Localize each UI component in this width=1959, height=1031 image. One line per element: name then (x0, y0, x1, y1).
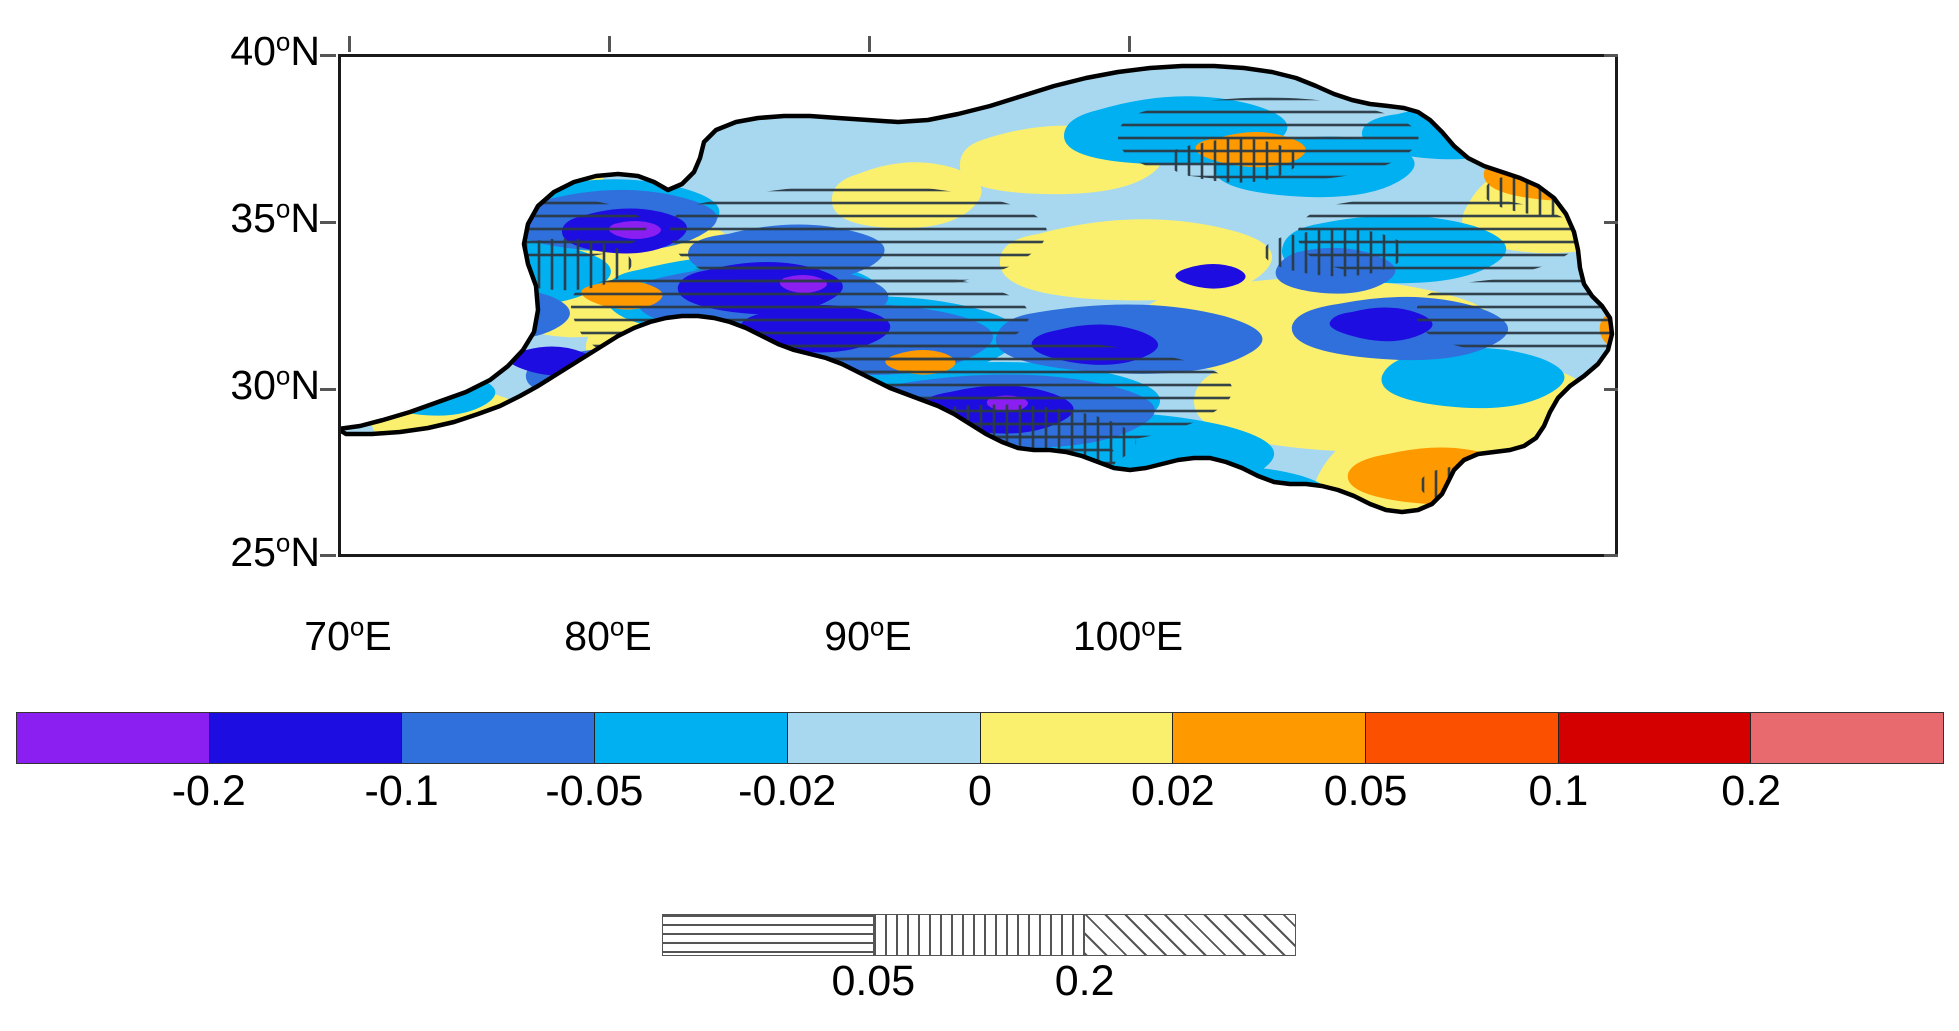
y-label-25-value: 25 (230, 529, 276, 575)
colorbar-label-2: -0.05 (545, 770, 643, 813)
colorbar-labels: -0.2 -0.1 -0.05 -0.02 0 0.02 0.05 0.1 0.… (16, 770, 1944, 822)
x-label-70-suffix: E (364, 613, 391, 659)
colorbar-label-6: 0.05 (1324, 770, 1408, 813)
y-tick-right-25n (1604, 554, 1618, 557)
x-tick-90e (868, 36, 871, 52)
x-tick-100e (1128, 36, 1131, 52)
y-tick-25n (320, 554, 336, 557)
map-axes-frame (338, 54, 1618, 557)
x-tick-70e (348, 36, 351, 52)
x-axis-label-80e: 80oE (498, 613, 718, 660)
hatch-legend-labels: 0.05 0.2 (662, 960, 1296, 1010)
y-axis-label-30n: 30oN (20, 362, 320, 409)
map-panel (338, 54, 1618, 557)
degree-symbol-icon: o (350, 611, 364, 641)
x-label-90-suffix: E (884, 613, 911, 659)
colorbar-swatch-medium-blue[interactable] (402, 713, 595, 763)
colorbar-label-0: -0.2 (172, 770, 246, 813)
hatch-swatch-diagonal-lines[interactable] (1085, 915, 1295, 955)
y-label-30-value: 30 (230, 362, 276, 408)
colorbar-swatch-yellow[interactable] (981, 713, 1174, 763)
y-axis-label-40n: 40oN (20, 28, 320, 75)
y-axis-label-35n: 35oN (20, 195, 320, 242)
colorbar-label-8: 0.2 (1721, 770, 1781, 813)
hatch-label-1: 0.2 (1055, 960, 1115, 1003)
x-axis-label-100e: 100oE (1018, 613, 1238, 660)
x-axis-label-70e: 70oE (238, 613, 458, 660)
y-label-40-suffix: N (290, 28, 320, 74)
figure-root: 40oN 35oN 30oN 25oN 70oE 80oE 90oE 100oE… (0, 0, 1959, 1031)
colorbar-swatch-orange[interactable] (1173, 713, 1366, 763)
hatch-legend[interactable] (662, 914, 1296, 956)
y-label-35-value: 35 (230, 195, 276, 241)
colorbar-swatch-cyan[interactable] (595, 713, 788, 763)
x-label-100-suffix: E (1156, 613, 1183, 659)
y-label-40-value: 40 (230, 28, 276, 74)
y-label-30-suffix: N (290, 362, 320, 408)
x-label-90-value: 90 (824, 613, 870, 659)
colorbar-label-5: 0.02 (1131, 770, 1215, 813)
y-axis-label-25n: 25oN (20, 529, 320, 576)
y-tick-35n (320, 221, 336, 224)
colorbar-label-1: -0.1 (365, 770, 439, 813)
y-label-35-suffix: N (290, 195, 320, 241)
colorbar-label-3: -0.02 (738, 770, 836, 813)
hatch-label-0: 0.05 (831, 960, 915, 1003)
x-label-80-value: 80 (564, 613, 610, 659)
y-tick-40n (320, 54, 336, 57)
colorbar-label-7: 0.1 (1529, 770, 1589, 813)
colorbar-swatch-blue[interactable] (210, 713, 403, 763)
degree-symbol-icon: o (276, 193, 290, 223)
colorbar-swatch-red[interactable] (1559, 713, 1752, 763)
y-tick-30n (320, 388, 336, 391)
colorbar-swatch-violet[interactable] (17, 713, 210, 763)
colorbar-swatch-dark-orange[interactable] (1366, 713, 1559, 763)
colorbar-label-4: 0 (968, 770, 992, 813)
x-label-100-value: 100 (1073, 613, 1141, 659)
y-tick-right-35n (1604, 221, 1618, 224)
degree-symbol-icon: o (276, 360, 290, 390)
y-label-25-suffix: N (290, 529, 320, 575)
x-label-80-suffix: E (624, 613, 651, 659)
y-tick-right-40n (1604, 54, 1618, 57)
degree-symbol-icon: o (1141, 611, 1155, 641)
colorbar[interactable] (16, 712, 1944, 764)
x-label-70-value: 70 (304, 613, 350, 659)
degree-symbol-icon: o (870, 611, 884, 641)
x-tick-80e (608, 36, 611, 52)
degree-symbol-icon: o (276, 527, 290, 557)
x-axis-label-90e: 90oE (758, 613, 978, 660)
hatch-swatch-horizontal-lines[interactable] (663, 915, 874, 955)
y-tick-right-30n (1604, 388, 1618, 391)
degree-symbol-icon: o (276, 26, 290, 56)
degree-symbol-icon: o (610, 611, 624, 641)
hatch-swatch-vertical-lines[interactable] (874, 915, 1085, 955)
colorbar-swatch-light-blue[interactable] (788, 713, 981, 763)
colorbar-swatch-pink-red[interactable] (1751, 713, 1943, 763)
